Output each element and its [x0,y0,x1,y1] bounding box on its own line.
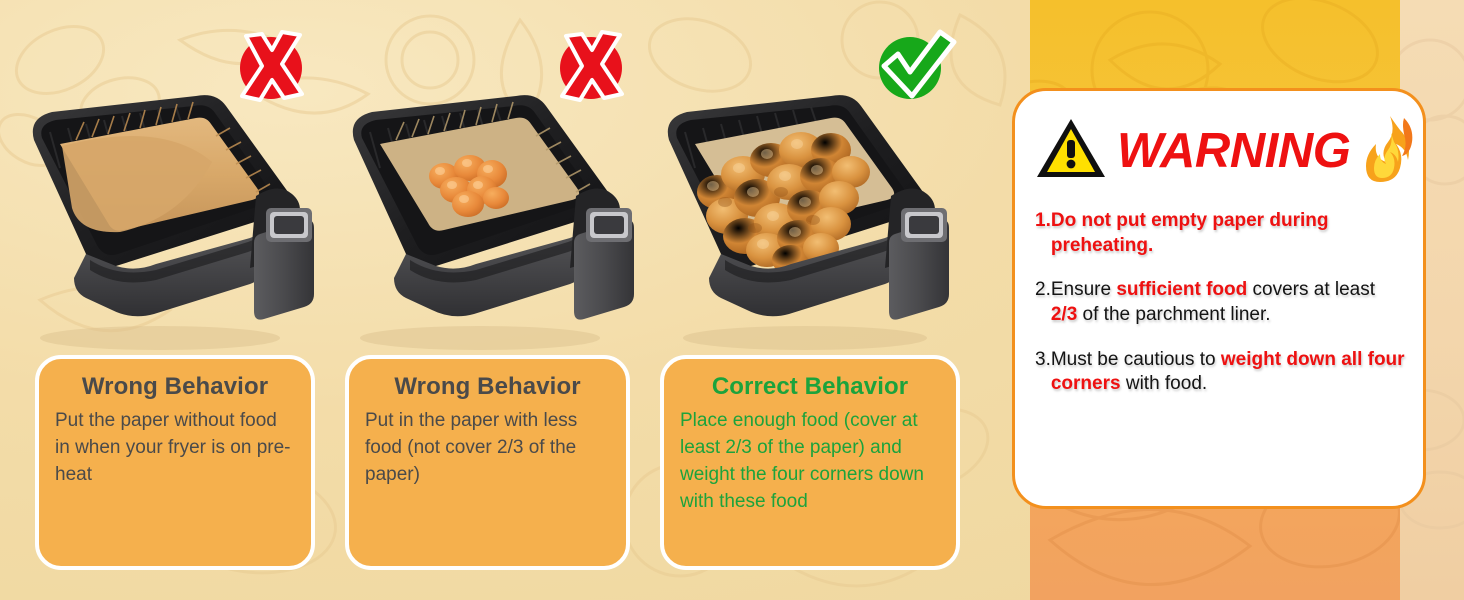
card-title: Wrong Behavior [365,373,610,401]
fryer-image-3 [655,88,965,350]
warning-item-2: 2. Ensure sufficient food covers at leas… [1035,278,1405,327]
warning-triangle-icon [1035,117,1107,186]
warning-heading: WARNING [1117,127,1350,176]
warning-item-3: 3. Must be cautious to weight down all f… [1035,348,1405,397]
flame-icon [1360,114,1418,189]
warning-item-number: 2. [1035,278,1051,327]
card-title: Wrong Behavior [55,373,295,401]
warning-item-text: Ensure sufficient food covers at least 2… [1051,278,1405,327]
warning-item-text: Must be cautious to weight down all four… [1051,348,1405,397]
card-body: Put in the paper with less food (not cov… [365,407,610,488]
caption-card-3: Correct Behavior Place enough food (cove… [660,355,960,570]
card-title: Correct Behavior [680,373,940,401]
card-body: Place enough food (cover at least 2/3 of… [680,407,940,516]
fryer-image-2 [340,88,640,350]
warning-item-number: 1. [1035,209,1051,258]
warning-item-1: 1. Do not put empty paper during preheat… [1035,209,1405,258]
caption-card-2: Wrong Behavior Put in the paper with les… [345,355,630,570]
warning-item-text: Do not put empty paper during preheating… [1051,209,1405,258]
infographic-canvas: Wrong Behavior Put the paper without foo… [0,0,1464,600]
green-check-icon [872,24,950,102]
caption-card-1: Wrong Behavior Put the paper without foo… [35,355,315,570]
fryer-image-1 [20,88,320,350]
warning-panel: WARNING 1. Do not put empty paper during… [1012,88,1426,509]
warning-header: WARNING [1035,113,1405,189]
warning-list: 1. Do not put empty paper during preheat… [1035,209,1405,397]
card-body: Put the paper without food in when your … [55,407,295,488]
red-x-icon [552,28,630,106]
warning-item-number: 3. [1035,348,1051,397]
red-x-icon [232,28,310,106]
